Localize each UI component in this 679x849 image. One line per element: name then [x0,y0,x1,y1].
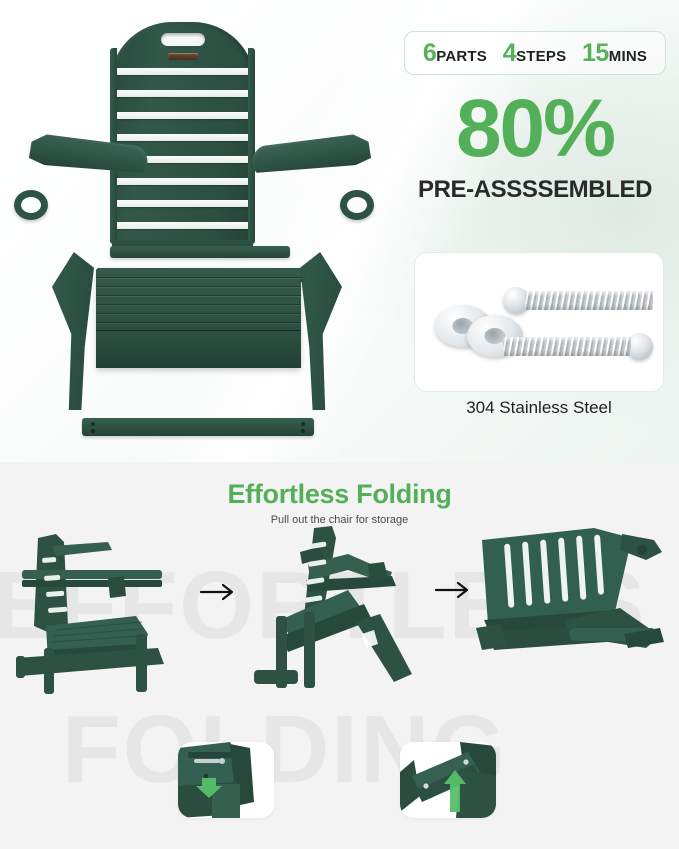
assembly-overview-section: 6 PARTS 4 STEPS 15 MINS 80% PRE-ASSSSEMB… [0,0,679,462]
stat-parts-unit: PARTS [436,48,487,65]
stat-steps: 4 STEPS [503,39,567,68]
stat-steps-number: 4 [503,39,516,68]
backrest-slat [117,200,248,207]
top-cross-brace-part [110,246,290,258]
bottom-cross-brace-part [82,418,314,436]
brace-hole [301,422,305,426]
backrest-slat [117,134,248,141]
right-cup-holder-part [340,190,374,220]
stat-parts-number: 6 [423,39,436,68]
hardware-material-label: 304 Stainless Steel [414,398,664,418]
folding-detail-photo-1 [178,742,274,818]
folding-detail-photo-2 [400,742,496,818]
backrest-slat [117,112,248,119]
seat-slat-line [96,295,301,296]
folding-stage-1-image [8,530,198,695]
backrest-slat [117,68,248,75]
folding-stage-2-image [252,524,432,696]
backrest-right-rail [248,48,255,244]
seat-front-apron [96,330,301,368]
folding-demo-section: EFFORTLESS FOLDING Effortless Folding Pu… [0,462,679,849]
right-armrest-part [250,129,372,181]
stat-steps-unit: STEPS [516,48,566,65]
bolt-icon [503,291,653,310]
stat-mins: 15 MINS [582,39,647,68]
seat-slat-line [96,286,301,287]
bolt-shaft [525,291,653,310]
brace-hole [91,429,95,433]
folding-stage-3-image [474,524,670,668]
brace-hole [91,422,95,426]
stat-parts: 6 PARTS [423,39,487,68]
bolt-icon [503,337,653,356]
seat-slat-line [96,313,301,314]
arrow-right-icon-1 [199,582,239,602]
exploded-parts-illustration [0,0,400,462]
backrest-slat [117,90,248,97]
brace-hole [301,429,305,433]
seat-slat-line [96,322,301,323]
bolt-shaft [503,337,631,356]
arrow-right-icon-2 [434,580,474,600]
chair-backrest-part [110,22,255,244]
left-leg-part [52,252,94,410]
right-leg-part [300,252,342,410]
left-cup-holder-part [14,190,48,220]
preassembled-percent: 80% [404,88,666,170]
seat-slat-line [96,277,301,278]
assembly-stats-pill: 6 PARTS 4 STEPS 15 MINS [404,31,666,75]
hardware-card [414,252,664,392]
seat-slat-line [96,304,301,305]
backrest-slat [117,178,248,185]
chair-seat-part [96,268,301,368]
brand-plate [168,53,198,60]
stat-mins-unit: MINS [609,48,647,65]
folding-title: Effortless Folding [0,479,679,510]
backrest-slat [117,222,248,229]
backrest-handle-cutout [161,33,205,46]
preassembled-label: PRE-ASSSSEMBLED [404,176,666,204]
stat-mins-number: 15 [582,39,609,68]
